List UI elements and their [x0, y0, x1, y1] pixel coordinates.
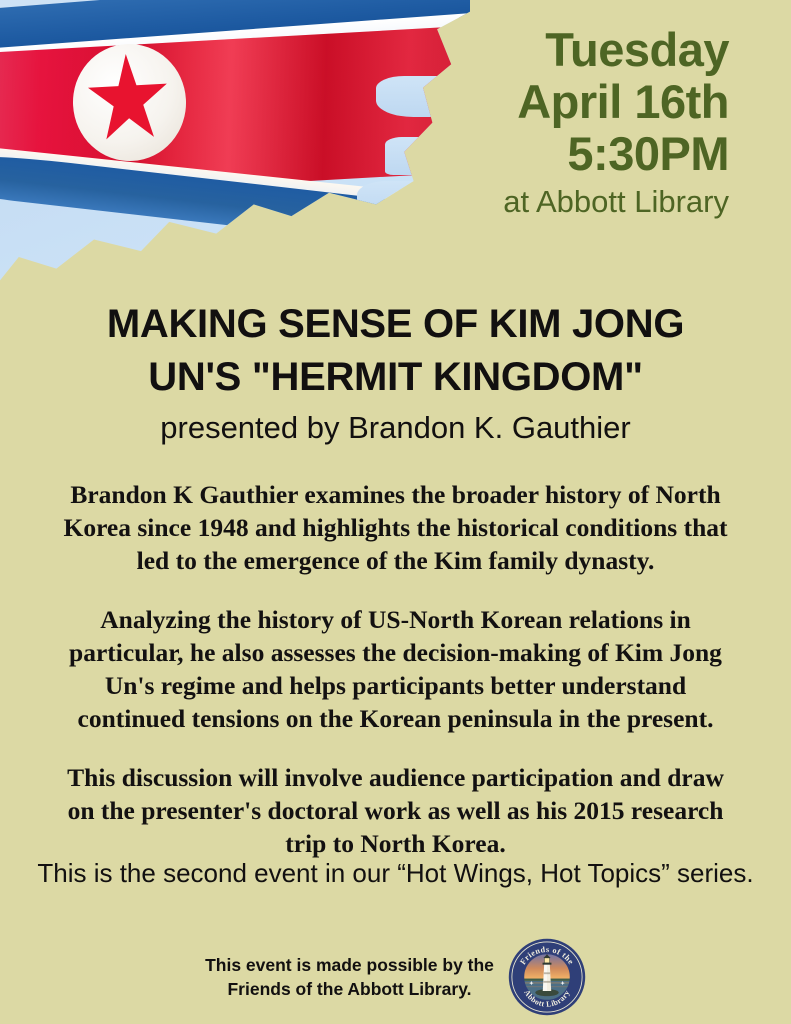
friends-of-abbott-library-seal: Friends of the Abbott Library: [508, 938, 586, 1016]
description-paragraph: Brandon K Gauthier examines the broader …: [52, 478, 739, 577]
page-title: MAKING SENSE OF KIM JONG UN'S "HERMIT KI…: [0, 298, 791, 450]
sponsor-line-2: Friends of the Abbott Library.: [205, 977, 494, 1001]
event-time: 5:30PM: [389, 128, 729, 180]
sponsor-text: This event is made possible by the Frien…: [205, 953, 494, 1001]
description-paragraph: Analyzing the history of US-North Korean…: [52, 603, 739, 735]
event-day: Tuesday: [389, 24, 729, 76]
description-paragraph: This discussion will involve audience pa…: [52, 761, 739, 860]
event-poster: Tuesday April 16th 5:30PM at Abbott Libr…: [0, 0, 791, 1024]
series-note: This is the second event in our “Hot Win…: [0, 856, 791, 890]
title-line-1: MAKING SENSE OF KIM JONG: [0, 298, 791, 351]
title-line-2: UN'S "HERMIT KINGDOM": [0, 351, 791, 404]
event-date: April 16th: [389, 76, 729, 128]
event-datetime-block: Tuesday April 16th 5:30PM at Abbott Libr…: [389, 24, 729, 224]
footer-block: This event is made possible by the Frien…: [0, 938, 791, 1016]
event-venue: at Abbott Library: [389, 180, 729, 224]
presenter-line: presented by Brandon K. Gauthier: [0, 406, 791, 450]
description-block: Brandon K Gauthier examines the broader …: [52, 478, 739, 860]
sponsor-line-1: This event is made possible by the: [205, 953, 494, 977]
